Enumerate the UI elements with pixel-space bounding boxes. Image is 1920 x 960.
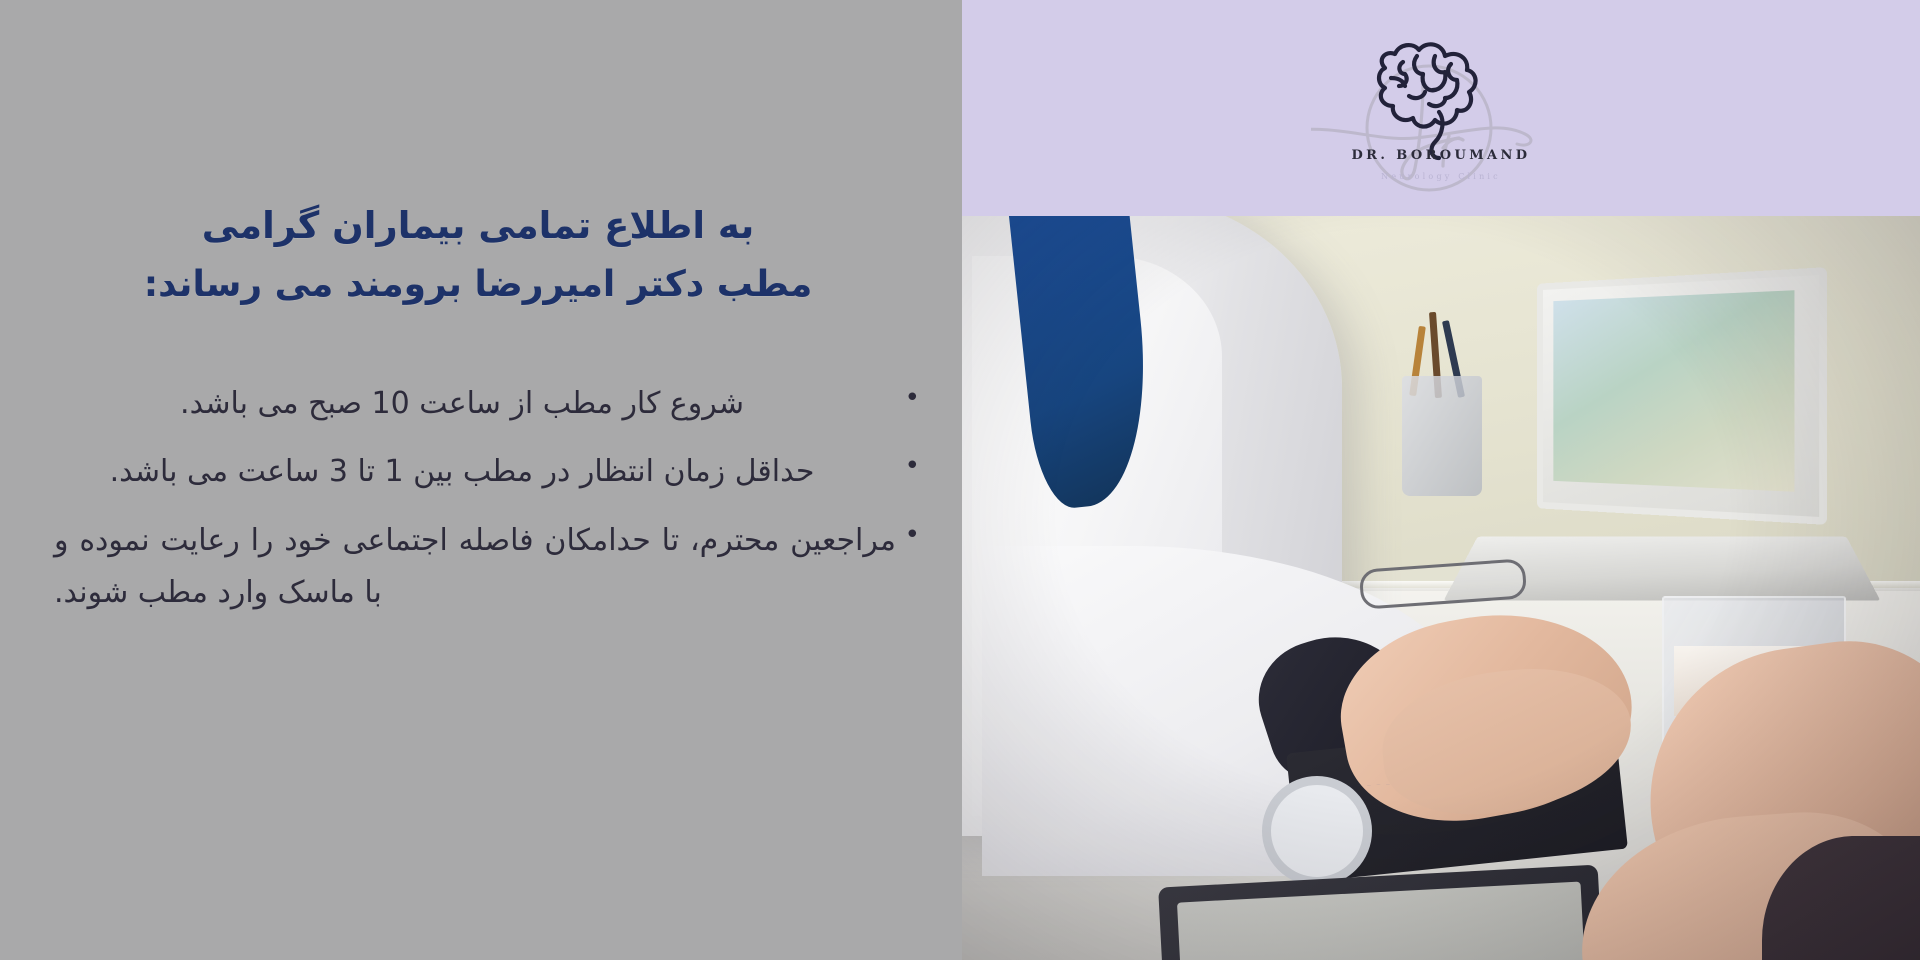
brand-name: DR. BOROUMAND <box>962 148 1920 163</box>
headline-line-1: به اطلاع تمامی بیماران گرامی <box>28 196 928 256</box>
image-panel: DR. BOROUMAND Neurology Clinic <box>962 0 1920 960</box>
photo-vignette <box>962 216 1920 960</box>
list-item: شروع کار مطب از ساعت 10 صبح می باشد. <box>28 378 928 430</box>
brand-band: DR. BOROUMAND Neurology Clinic <box>962 0 1920 216</box>
notice-list: شروع کار مطب از ساعت 10 صبح می باشد. حدا… <box>28 378 928 619</box>
list-item: حداقل زمان انتظار در مطب بین 1 تا 3 ساعت… <box>28 446 928 498</box>
announcement-poster: به اطلاع تمامی بیماران گرامی مطب دکتر ام… <box>0 0 1920 960</box>
page-title: به اطلاع تمامی بیماران گرامی مطب دکتر ام… <box>28 0 928 314</box>
list-item: مراجعین محترم، تا حدامکان فاصله اجتماعی … <box>28 515 928 619</box>
brand-subtitle: Neurology Clinic <box>962 172 1920 181</box>
headline-line-2: مطب دکتر امیررضا برومند می رساند: <box>28 256 928 314</box>
text-panel: به اطلاع تمامی بیماران گرامی مطب دکتر ام… <box>0 0 962 960</box>
brain-line-art-icon <box>1311 16 1571 198</box>
doctor-and-patient-at-desk-photo <box>962 216 1920 960</box>
